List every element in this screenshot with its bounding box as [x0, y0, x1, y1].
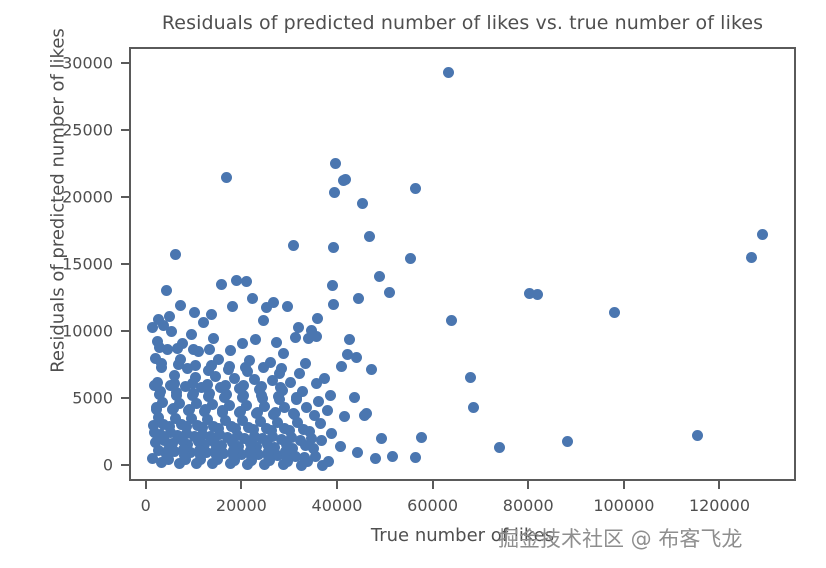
scatter-point — [282, 301, 293, 312]
scatter-point — [306, 325, 317, 336]
scatter-point — [166, 326, 177, 337]
scatter-point — [352, 447, 363, 458]
scatter-point — [270, 407, 281, 418]
scatter-point — [410, 183, 421, 194]
x-axis-tick-label: 40000 — [312, 496, 363, 515]
x-axis-tick-label: 20000 — [216, 496, 267, 515]
scatter-point — [204, 344, 215, 355]
page-title: Residuals of predicted number of likes v… — [129, 12, 796, 34]
scatter-point — [327, 280, 338, 291]
y-axis-tick-mark — [121, 464, 129, 466]
scatter-point — [338, 175, 349, 186]
scatter-point — [344, 334, 355, 345]
y-axis-tick-label: 0 — [19, 455, 113, 474]
scatter-point — [216, 279, 227, 290]
x-axis-tick-mark — [623, 481, 625, 489]
scatter-point — [410, 452, 421, 463]
scatter-point — [293, 322, 304, 333]
scatter-point — [353, 293, 364, 304]
y-axis-tick-mark — [121, 397, 129, 399]
scatter-point — [235, 406, 246, 417]
scatter-point — [263, 446, 274, 457]
scatter-point — [279, 423, 290, 434]
x-axis-tick-mark — [527, 481, 529, 489]
scatter-point — [208, 421, 219, 432]
scatter-point — [190, 360, 201, 371]
scatter-point — [221, 389, 232, 400]
scatter-point — [317, 460, 328, 471]
scatter-point — [250, 334, 261, 345]
scatter-point — [243, 422, 254, 433]
plot-area — [129, 47, 796, 481]
x-axis-tick-label: 0 — [141, 496, 151, 515]
scatter-point — [261, 423, 272, 434]
scatter-point — [153, 314, 164, 325]
scatter-plot-figure: Residuals of predicted number of likes v… — [0, 0, 826, 568]
scatter-point — [300, 358, 311, 369]
scatter-point — [161, 285, 172, 296]
scatter-point — [176, 419, 187, 430]
scatter-point — [300, 440, 311, 451]
scatter-point — [247, 293, 258, 304]
scatter-point — [171, 387, 182, 398]
scatter-point — [494, 442, 505, 453]
scatter-point — [194, 445, 205, 456]
scatter-point — [416, 432, 427, 443]
x-axis-tick-mark — [336, 481, 338, 489]
scatter-point — [220, 380, 231, 391]
scatter-point — [374, 271, 385, 282]
scatter-point — [170, 249, 181, 260]
scatter-point — [290, 332, 301, 343]
scatter-point — [258, 362, 269, 373]
x-axis-tick-mark — [718, 481, 720, 489]
scatter-point — [238, 380, 249, 391]
y-axis-tick-mark — [121, 129, 129, 131]
x-axis-tick-mark — [145, 481, 147, 489]
x-axis-tick-mark — [432, 481, 434, 489]
y-axis-tick-mark — [121, 263, 129, 265]
x-axis-tick-mark — [240, 481, 242, 489]
scatter-point — [366, 364, 377, 375]
scatter-point — [757, 229, 768, 240]
scatter-point — [299, 452, 310, 463]
scatter-point — [224, 361, 235, 372]
scatter-point — [325, 390, 336, 401]
scatter-point — [405, 253, 416, 264]
scatter-point — [276, 363, 287, 374]
scatter-point — [328, 242, 339, 253]
scatter-point — [312, 313, 323, 324]
scatter-point — [361, 408, 372, 419]
scatter-point — [562, 436, 573, 447]
scatter-point — [210, 445, 221, 456]
scatter-point — [192, 420, 203, 431]
y-axis-label: Residuals of predicted number of likes — [48, 1, 69, 401]
scatter-point — [326, 428, 337, 439]
scatter-point — [169, 378, 180, 389]
scatter-point — [329, 187, 340, 198]
scatter-point — [271, 337, 282, 348]
scatter-point — [609, 307, 620, 318]
scatter-point — [376, 433, 387, 444]
scatter-point — [268, 297, 279, 308]
scatter-point — [188, 388, 199, 399]
scatter-point — [294, 368, 305, 379]
scatter-point — [225, 345, 236, 356]
scatter-point — [288, 408, 299, 419]
scatter-point — [256, 390, 267, 401]
scatter-point — [364, 231, 375, 242]
scatter-point — [315, 418, 326, 429]
scatter-point — [446, 315, 457, 326]
scatter-point — [237, 338, 248, 349]
scatter-point — [311, 378, 322, 389]
scatter-point — [188, 344, 199, 355]
scatter-point — [198, 317, 209, 328]
scatter-point — [206, 309, 217, 320]
scatter-point — [154, 342, 165, 353]
y-axis-tick-mark — [121, 330, 129, 332]
x-axis-tick-label: 120000 — [689, 496, 750, 515]
x-axis-tick-label: 60000 — [407, 496, 458, 515]
scatter-point — [357, 198, 368, 209]
x-axis-tick-label: 100000 — [593, 496, 654, 515]
x-axis-tick-label: 80000 — [503, 496, 554, 515]
scatter-point — [258, 315, 269, 326]
scatter-point — [228, 445, 239, 456]
scatter-point — [158, 419, 169, 430]
scatter-point — [692, 430, 703, 441]
scatter-point — [241, 276, 252, 287]
scatter-point — [443, 67, 454, 78]
scatter-point — [288, 240, 299, 251]
scatter-point — [164, 311, 175, 322]
scatter-point — [298, 424, 309, 435]
scatter-point — [335, 441, 346, 452]
scatter-point — [384, 287, 395, 298]
scatter-point — [387, 451, 398, 462]
scatter-point — [240, 362, 251, 373]
scatter-point — [339, 411, 350, 422]
scatter-point — [208, 333, 219, 344]
scatter-point — [532, 289, 543, 300]
scatter-point — [349, 392, 360, 403]
scatter-point — [186, 329, 197, 340]
scatter-point — [468, 402, 479, 413]
scatter-point — [206, 360, 217, 371]
scatter-point — [172, 343, 183, 354]
scatter-point — [175, 300, 186, 311]
scatter-point — [152, 377, 163, 388]
scatter-point — [330, 158, 341, 169]
scatter-point — [256, 381, 267, 392]
scatter-point — [227, 301, 238, 312]
scatter-point — [275, 382, 286, 393]
scatter-point — [328, 299, 339, 310]
scatter-point — [746, 252, 757, 263]
scatter-point — [313, 396, 324, 407]
scatter-point — [336, 361, 347, 372]
scatter-point — [370, 453, 381, 464]
scatter-point — [156, 358, 167, 369]
scatter-point — [221, 172, 232, 183]
y-axis-tick-mark — [121, 196, 129, 198]
watermark-text: 掘金技术社区 @ 布客飞龙 — [498, 523, 742, 553]
scatter-point — [252, 407, 263, 418]
scatter-point — [465, 372, 476, 383]
scatter-point — [189, 307, 200, 318]
scatter-point — [322, 405, 333, 416]
scatter-point — [163, 444, 174, 455]
scatter-point — [178, 444, 189, 455]
scatter-point — [351, 352, 362, 363]
y-axis-tick-mark — [121, 62, 129, 64]
scatter-points-layer — [131, 49, 794, 479]
scatter-point — [278, 348, 289, 359]
